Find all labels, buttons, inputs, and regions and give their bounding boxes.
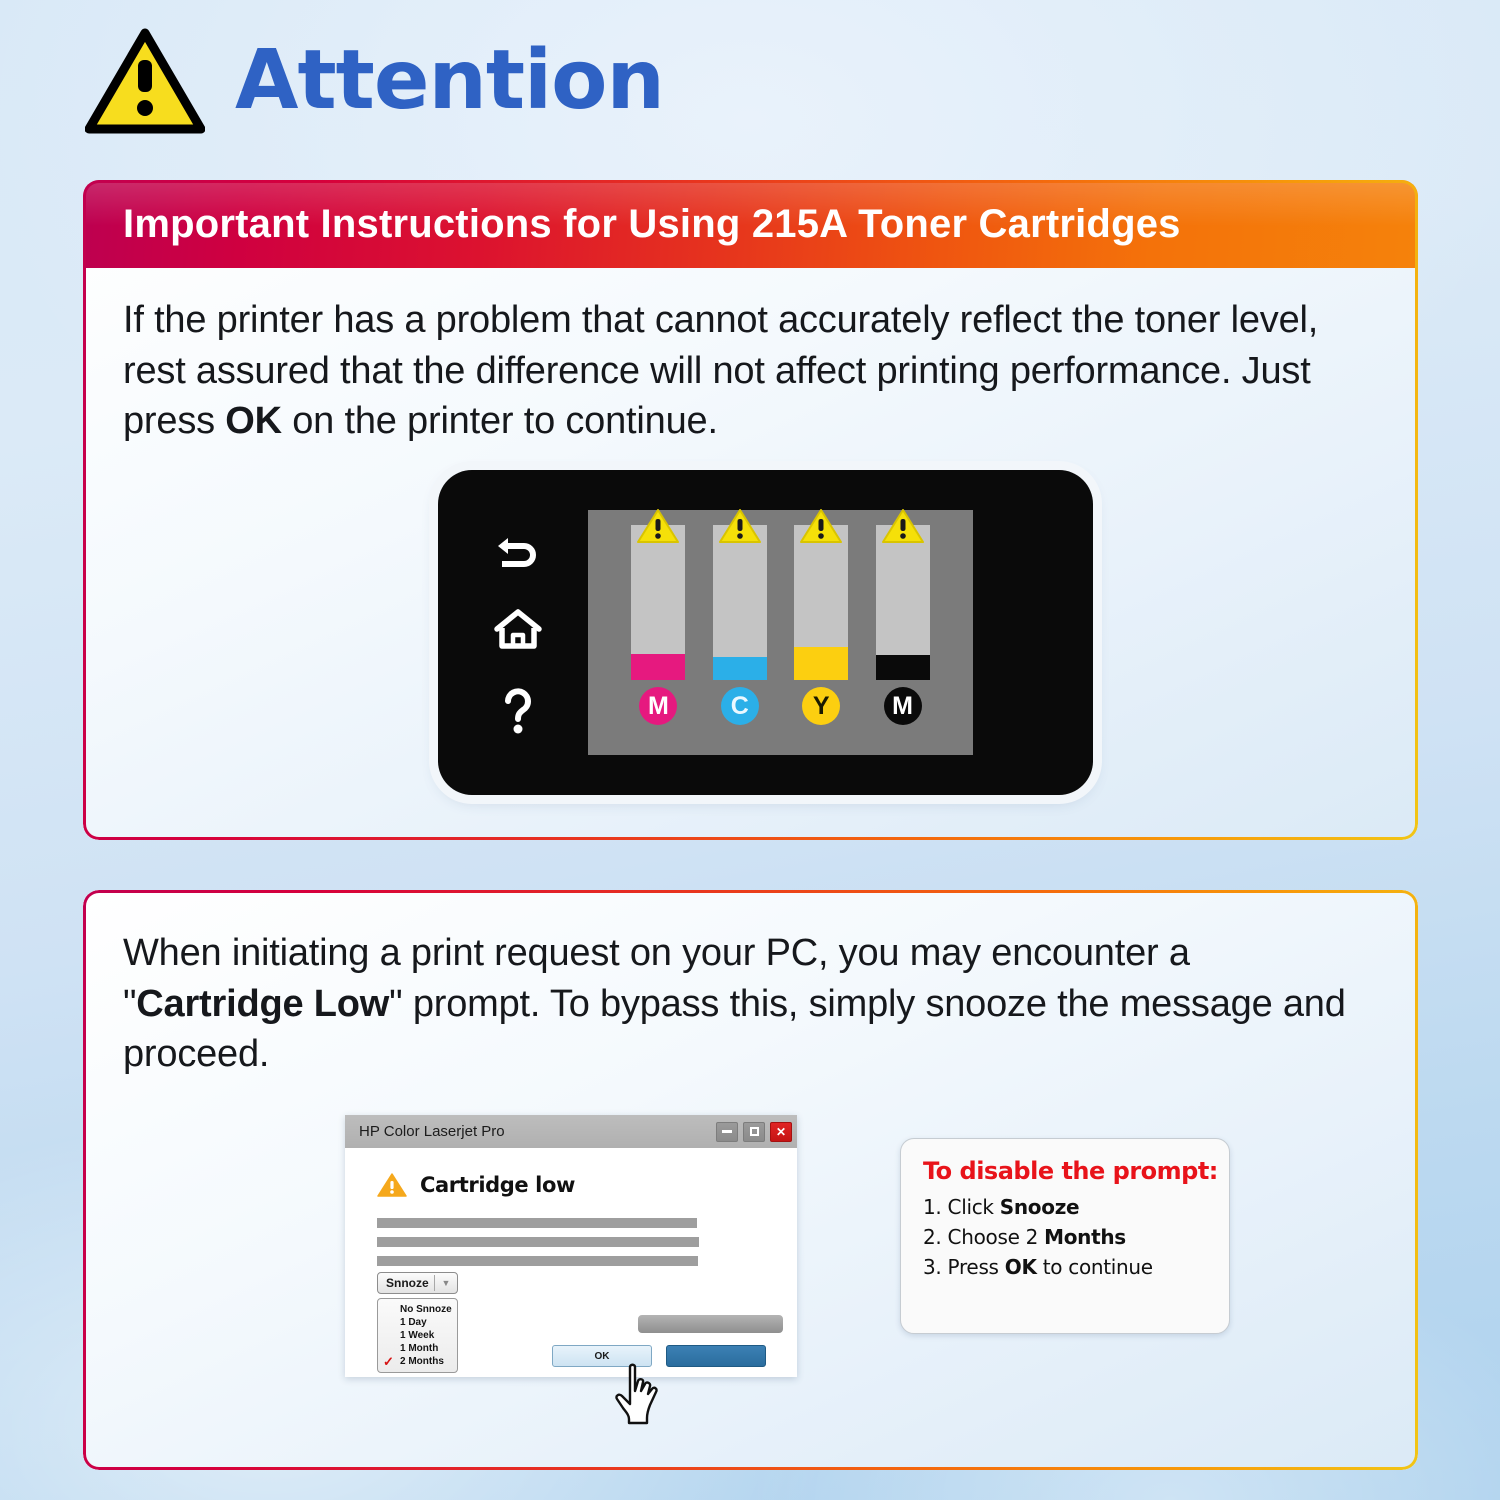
step-bold: OK [1005, 1255, 1037, 1279]
printer-control-panel: M C [438, 470, 1093, 795]
cartridge-low-bold-term: Cartridge Low [136, 983, 389, 1025]
toner-status-screen: M C [588, 510, 973, 755]
banner-title: Important Instructions for Using 215A To… [83, 202, 1181, 247]
warning-triangle-icon [636, 507, 680, 545]
warning-triangle-icon [799, 507, 843, 545]
maximize-icon[interactable] [743, 1122, 765, 1142]
callout-title: To disable the prompt: [923, 1157, 1229, 1185]
back-arrow-icon[interactable] [494, 531, 542, 571]
snooze-option-label: 1 Week [400, 1330, 434, 1341]
hand-pointer-cursor [613, 1361, 669, 1427]
warning-triangle-icon [718, 507, 762, 545]
snooze-button-label: Snnoze [378, 1276, 429, 1290]
step-bold: Snooze [1000, 1195, 1080, 1219]
snooze-line-2b: " prompt. To bypass this, simply snooze … [389, 983, 1272, 1025]
cartridge-low-label: Cartridge low [420, 1173, 575, 1197]
snooze-instructions-card: When initiating a print request on your … [83, 890, 1418, 1470]
callout-step-3: 3. Press OK to continue [923, 1255, 1229, 1279]
minimize-icon[interactable] [716, 1122, 738, 1142]
toner-fill-yellow [794, 647, 848, 680]
snooze-line-2a: " [123, 983, 136, 1025]
home-icon[interactable] [493, 607, 543, 651]
snooze-option-2-months[interactable]: ✓ 2 Months [378, 1355, 457, 1368]
step-bold: Months [1044, 1225, 1126, 1249]
snooze-option-label: 2 Months [400, 1356, 444, 1367]
close-icon[interactable]: ✕ [770, 1122, 792, 1142]
snooze-option-1-day[interactable]: 1 Day [378, 1316, 457, 1329]
ok-bold-term: OK [225, 400, 282, 442]
toner-badge-magenta: M [639, 687, 677, 725]
warning-triangle-icon [377, 1172, 407, 1198]
step-number: 1. [923, 1195, 941, 1219]
dialog-title: HP Color Laserjet Pro [359, 1123, 505, 1140]
checkmark-icon: ✓ [383, 1354, 394, 1370]
page-title: Attention [235, 40, 664, 122]
disable-prompt-callout: To disable the prompt: 1. Click Snooze 2… [900, 1138, 1230, 1334]
primary-blue-button[interactable] [666, 1345, 766, 1367]
placeholder-bar [377, 1237, 699, 1247]
attention-header: Attention [85, 28, 664, 134]
window-controls: ✕ [716, 1122, 792, 1142]
snooze-option-1-week[interactable]: 1 Week [378, 1329, 457, 1342]
toner-bar-track [713, 525, 767, 680]
toner-bar-track [876, 525, 930, 680]
placeholder-bar [377, 1218, 697, 1228]
instructions-line-1: If the printer has a problem that cannot… [123, 299, 1318, 341]
snooze-option-label: 1 Month [400, 1343, 438, 1354]
instructions-line-2: rest assured that the difference will no… [123, 350, 1311, 392]
toner-gauge: Y [794, 525, 848, 725]
placeholder-text-bars [377, 1218, 775, 1266]
step-text: Click [941, 1195, 999, 1219]
toner-badge-cyan: C [721, 687, 759, 725]
step-text-post: to continue [1037, 1255, 1153, 1279]
instructions-card: Important Instructions for Using 215A To… [83, 180, 1418, 840]
instructions-body: If the printer has a problem that cannot… [123, 295, 1378, 447]
toner-badge-black: M [884, 687, 922, 725]
snooze-option-no-snooze[interactable]: No Snnoze [378, 1303, 457, 1316]
dialog-body: Cartridge low Snnoze ▼ No Snnoze 1 Day 1… [345, 1148, 797, 1377]
toner-badge-yellow: Y [802, 687, 840, 725]
warning-triangle-icon [881, 507, 925, 545]
panel-icon-column [438, 470, 588, 795]
snooze-control: Snnoze ▼ No Snnoze 1 Day 1 Week 1 Month … [377, 1272, 458, 1373]
step-text: Press [941, 1255, 1004, 1279]
step-number: 2. [923, 1225, 941, 1249]
snooze-option-label: No Snnoze [400, 1304, 452, 1315]
toner-fill-cyan [713, 657, 767, 680]
toner-fill-magenta [631, 654, 685, 680]
toner-bar-track [631, 525, 685, 680]
toner-gauge: M [876, 525, 930, 725]
snooze-body: When initiating a print request on your … [123, 928, 1353, 1080]
step-number: 3. [923, 1255, 941, 1279]
snooze-line-1: When initiating a print request on your … [123, 932, 1190, 974]
help-question-icon[interactable] [500, 687, 536, 735]
chevron-down-icon[interactable]: ▼ [435, 1278, 457, 1288]
toner-gauge: M [631, 525, 685, 725]
warning-triangle-icon [85, 28, 205, 134]
instructions-line-3a: press [123, 400, 225, 442]
snooze-options-list[interactable]: No Snnoze 1 Day 1 Week 1 Month ✓ 2 Month… [377, 1298, 458, 1373]
snooze-dropdown-button[interactable]: Snnoze ▼ [377, 1272, 458, 1294]
cartridge-low-dialog: HP Color Laserjet Pro ✕ Cartridge low [345, 1115, 797, 1377]
toner-gauge: C [713, 525, 767, 725]
secondary-gray-button[interactable] [637, 1314, 784, 1334]
placeholder-bar [377, 1256, 698, 1266]
cartridge-low-alert: Cartridge low [377, 1172, 775, 1198]
callout-step-2: 2. Choose 2 Months [923, 1225, 1229, 1249]
callout-step-1: 1. Click Snooze [923, 1195, 1229, 1219]
step-text: Choose 2 [941, 1225, 1044, 1249]
snooze-option-label: 1 Day [400, 1317, 427, 1328]
toner-fill-black [876, 655, 930, 680]
card-banner: Important Instructions for Using 215A To… [83, 180, 1418, 268]
dialog-titlebar: HP Color Laserjet Pro ✕ [345, 1115, 797, 1148]
instructions-line-3b: on the printer to continue. [282, 400, 718, 442]
toner-bar-track [794, 525, 848, 680]
